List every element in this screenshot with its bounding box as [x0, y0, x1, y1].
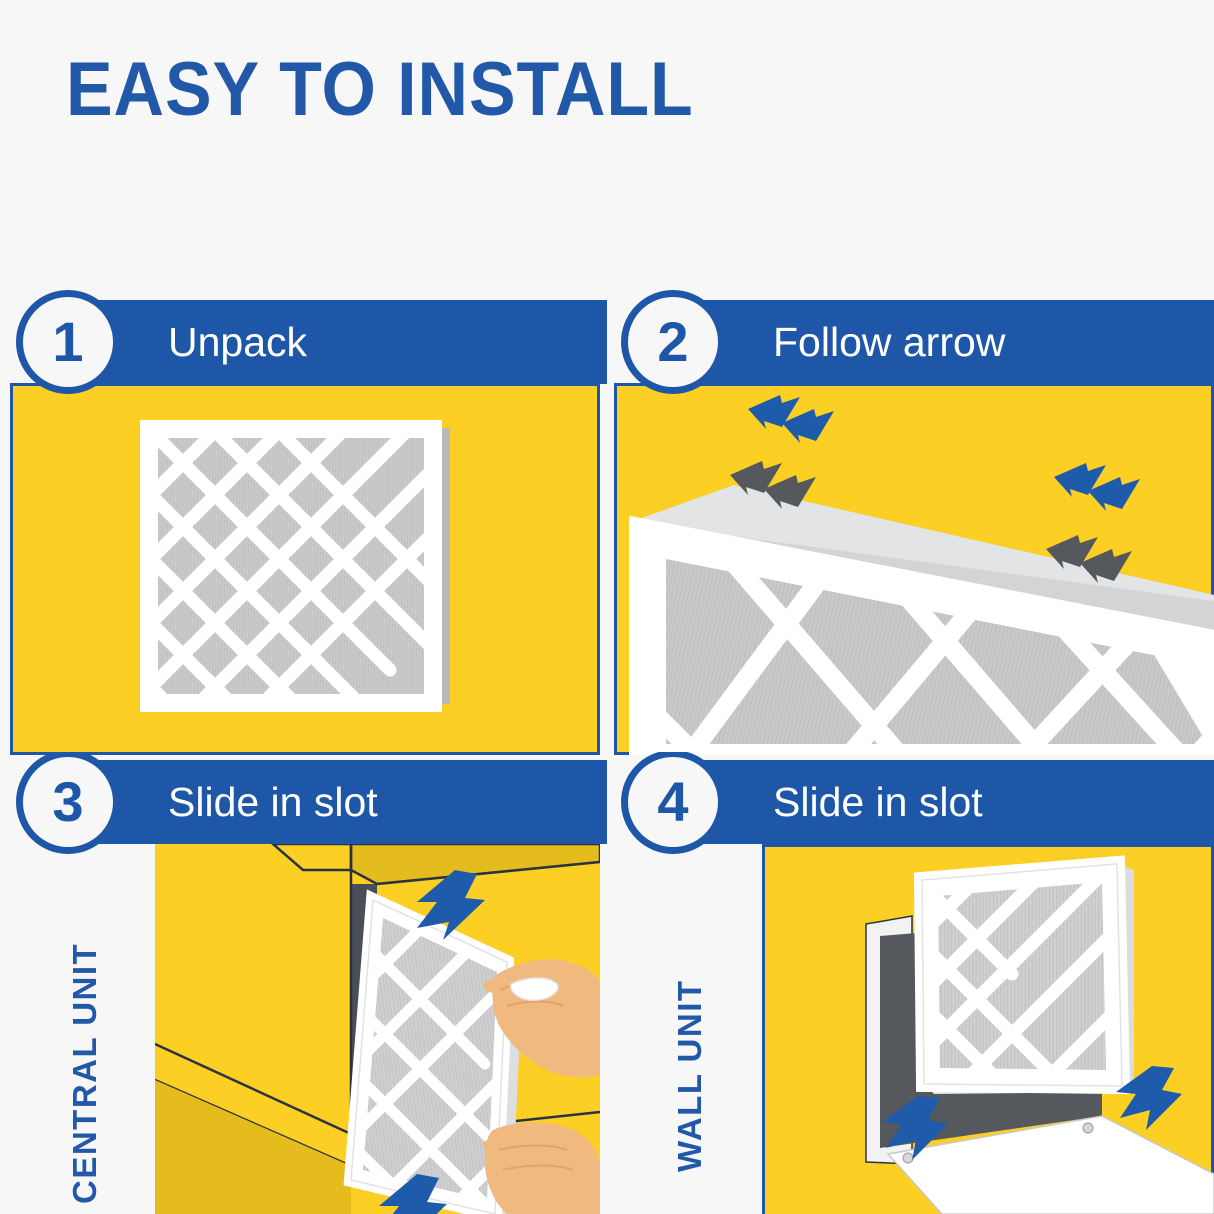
step-1-number: 1 — [52, 314, 83, 370]
step-4-badge: 4 — [621, 752, 725, 854]
step-2-label: Follow arrow — [773, 322, 1005, 363]
step-1-header: Unpack — [62, 300, 607, 384]
step-panel-4: Slide in slot 4 WALL UNIT — [607, 752, 1214, 1214]
step-4-side-label: WALL UNIT — [673, 979, 706, 1172]
hand-lower — [483, 1123, 601, 1214]
airflow-arrow-blue-left — [748, 395, 834, 443]
step-4-number: 4 — [657, 774, 688, 830]
page-title: EASY TO INSTALL — [66, 52, 694, 128]
step-3-label: Slide in slot — [168, 782, 378, 823]
step-panel-1: Unpack 1 — [0, 270, 607, 760]
step-panel-2: Follow arrow 2 — [607, 270, 1214, 760]
step-2-badge: 2 — [621, 290, 725, 394]
filter-illustration-flat — [140, 420, 460, 712]
step-3-badge: 3 — [16, 752, 120, 854]
filter-illustration-tilted — [614, 383, 1214, 755]
step-2-number: 2 — [657, 314, 688, 370]
step-3-number: 3 — [52, 774, 83, 830]
step-4-header: Slide in slot — [667, 760, 1214, 844]
illustration-central-unit — [155, 844, 600, 1214]
step-3-header: Slide in slot — [62, 760, 607, 844]
step-1-badge: 1 — [16, 290, 120, 394]
airflow-arrow-blue-right — [1054, 463, 1140, 511]
step-1-label: Unpack — [168, 322, 307, 363]
step-2-header: Follow arrow — [667, 300, 1214, 384]
illustration-wall-unit — [762, 844, 1214, 1214]
step-4-label: Slide in slot — [773, 782, 983, 823]
step-panel-3: Slide in slot 3 CENTRAL UNIT — [0, 752, 607, 1214]
step-3-side-label: CENTRAL UNIT — [68, 943, 101, 1204]
